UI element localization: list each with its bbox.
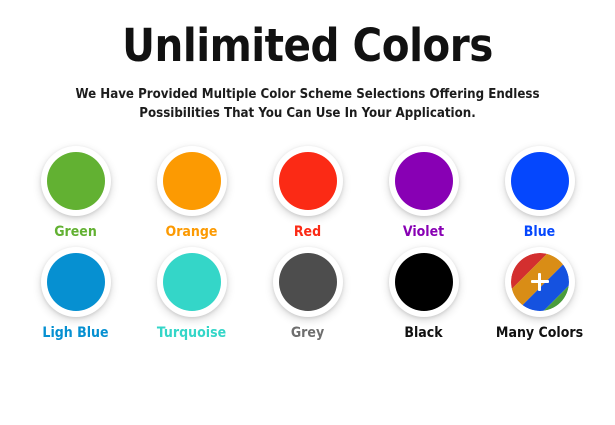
color-swatch-item[interactable]: Ligh Blue (18, 247, 134, 340)
plus-icon (531, 273, 549, 291)
swatch-label: Ligh Blue (42, 326, 108, 340)
page-subtitle: We Have Provided Multiple Color Scheme S… (58, 85, 558, 123)
header: Unlimited Colors We Have Provided Multip… (0, 0, 615, 124)
swatch-label: Green (54, 225, 97, 239)
circle-swatch-icon (163, 253, 221, 311)
circle-swatch-icon (279, 253, 337, 311)
color-swatch-grid: Green Orange Red Violet Blue (18, 146, 598, 340)
circle-swatch-icon (163, 152, 221, 210)
swatch-ring[interactable] (41, 247, 111, 317)
color-swatch-item[interactable]: Orange (134, 146, 250, 239)
circle-swatch-icon (395, 152, 453, 210)
page-title: Unlimited Colors (0, 22, 615, 69)
swatch-ring[interactable] (157, 146, 227, 216)
color-swatch-item[interactable]: Green (18, 146, 134, 239)
circle-swatch-icon (395, 253, 453, 311)
swatch-ring[interactable] (505, 146, 575, 216)
color-swatch-item[interactable]: Many Colors (482, 247, 598, 340)
circle-swatch-icon (279, 152, 337, 210)
color-swatch-item[interactable]: Black (366, 247, 482, 340)
swatch-label: Orange (166, 225, 218, 239)
swatch-label: Turquoise (157, 326, 226, 340)
color-swatch-item[interactable]: Blue (482, 146, 598, 239)
circle-swatch-icon (47, 152, 105, 210)
swatch-label: Many Colors (496, 326, 583, 340)
color-swatch-item[interactable]: Red (250, 146, 366, 239)
swatch-ring[interactable] (505, 247, 575, 317)
swatch-label: Black (404, 326, 442, 340)
rainbow-swatch-plus-icon (511, 253, 569, 311)
swatch-label: Blue (524, 225, 555, 239)
color-swatch-item[interactable]: Turquoise (134, 247, 250, 340)
swatch-ring[interactable] (273, 146, 343, 216)
swatch-ring[interactable] (273, 247, 343, 317)
swatch-label: Grey (291, 326, 324, 340)
swatch-ring[interactable] (389, 247, 459, 317)
color-swatch-item[interactable]: Violet (366, 146, 482, 239)
circle-swatch-icon (511, 152, 569, 210)
swatch-ring[interactable] (389, 146, 459, 216)
color-swatch-item[interactable]: Grey (250, 247, 366, 340)
swatch-label: Red (294, 225, 321, 239)
swatch-ring[interactable] (157, 247, 227, 317)
color-scheme-showcase: Unlimited Colors We Have Provided Multip… (0, 0, 615, 425)
circle-swatch-icon (47, 253, 105, 311)
swatch-ring[interactable] (41, 146, 111, 216)
swatch-label: Violet (403, 225, 444, 239)
